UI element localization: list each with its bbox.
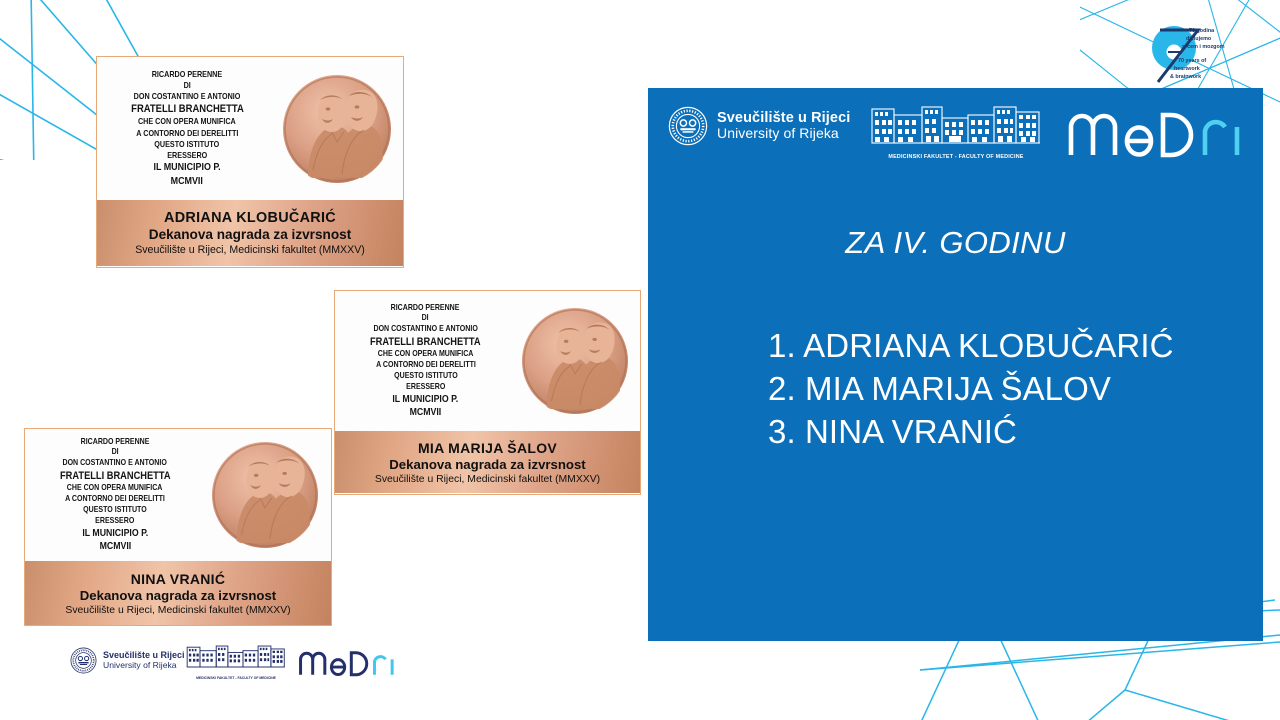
cert-line-6: A CONTORNO DEI DERELITTI — [136, 128, 238, 139]
faculty-lockup: MEDICINSKI FAKULTET - FACULTY OF MEDICIN… — [870, 102, 1042, 160]
cert-line-3: DON COSTANTINO E ANTONIO — [373, 324, 477, 335]
anniversary-line-5: heartwork — [1174, 66, 1200, 72]
faculty-caption: MEDICINSKI FAKULTET - FACULTY OF MEDICIN… — [870, 154, 1042, 160]
cert-line-10: MCMVII — [171, 175, 203, 189]
footer-university-lockup: Sveučilište u Rijeci University of Rijek… — [70, 647, 185, 674]
cert-line-10: MCMVII — [410, 406, 442, 419]
certificate-award-title: Dekanova nagrada za izvrsnost — [80, 588, 276, 603]
cert-line-4: FRATELLI BRANCHETTA — [60, 469, 171, 483]
university-name-hr: Sveučilište u Rijeci — [717, 111, 850, 127]
certificate-mia-marija-salov: RICARDO PERENNE DI DON COSTANTINO E ANTO… — [334, 290, 641, 495]
certificate-awardee-name: MIA MARIJA ŠALOV — [418, 440, 557, 456]
cert-line-5: CHE CON OPERA MUNIFICA — [378, 349, 474, 360]
footer-medri-logo — [298, 645, 398, 679]
medri-wordmark-icon — [1067, 101, 1247, 159]
certificate-awardee-name: NINA VRANIĆ — [131, 571, 226, 587]
anniversary-line-4: 70 years of — [1178, 58, 1206, 64]
cert-line-6: A CONTORNO DEI DERELITTI — [376, 360, 476, 371]
cert-line-3: DON COSTANTINO E ANTONIO — [134, 91, 241, 102]
footer-faculty-caption: MEDICINSKI FAKULTET - FACULTY OF MEDICIN… — [186, 676, 286, 680]
cert-line-7: QUESTO ISTITUTO — [394, 371, 458, 382]
anniversary-line-3: srcem i mozgom — [1182, 44, 1225, 50]
certificate-awardee-name: ADRIANA KLOBUČARIĆ — [164, 210, 336, 226]
certificate-institution: Sveučilište u Rijeci, Medicinski fakulte… — [375, 474, 600, 485]
cert-line-8: ERESSERO — [406, 382, 445, 393]
certificate-adriana-klobucaric: RICARDO PERENNE DI DON COSTANTINO E ANTO… — [96, 56, 404, 268]
cert-line-2: DI — [422, 313, 429, 324]
medri-logo — [1067, 101, 1247, 159]
cert-line-7: QUESTO ISTITUTO — [83, 505, 147, 516]
cert-line-10: MCMVII — [99, 540, 131, 553]
anniversary-line-2: djelujemo — [1186, 36, 1211, 42]
panel-title: ZA IV. GODINU — [648, 225, 1263, 261]
medri-wordmark-icon — [298, 645, 398, 677]
cert-line-2: DI — [183, 80, 190, 91]
cert-line-5: CHE CON OPERA MUNIFICA — [67, 483, 163, 494]
cert-line-4: FRATELLI BRANCHETTA — [370, 335, 481, 349]
university-of-rijeka-seal-icon — [70, 647, 97, 674]
certificate-body-text: RICARDO PERENNE DI DON COSTANTINO E ANTO… — [25, 429, 199, 561]
footer-university-names: Sveučilište u Rijeci University of Rijek… — [103, 651, 185, 670]
branchetta-brothers-medal-icon — [211, 441, 319, 549]
cert-line-3: DON COSTANTINO E ANTONIO — [63, 458, 167, 469]
certificate-institution: Sveučilište u Rijeci, Medicinski fakulte… — [135, 244, 365, 256]
presentation-slide: 70 godina djelujemo srcem i mozgom 70 ye… — [0, 0, 1280, 720]
branchetta-brothers-medal-icon — [282, 74, 392, 184]
university-lockup: Sveučilište u Rijeci University of Rijek… — [668, 106, 850, 146]
cert-line-1: RICARDO PERENNE — [391, 303, 460, 314]
university-of-rijeka-seal-icon — [668, 106, 708, 146]
faculty-building-icon — [870, 102, 1042, 148]
anniversary-logo: 70 godina djelujemo srcem i mozgom 70 ye… — [1140, 8, 1275, 88]
cert-line-1: RICARDO PERENNE — [81, 437, 150, 448]
certificate-award-title: Dekanova nagrada za izvrsnost — [389, 457, 585, 472]
certificate-nina-vranic: RICARDO PERENNE DI DON COSTANTINO E ANTO… — [24, 428, 332, 626]
certificate-body-text: RICARDO PERENNE DI DON COSTANTINO E ANTO… — [335, 291, 510, 431]
awardee-item-2: 2. MIA MARIJA ŠALOV — [768, 367, 1268, 410]
blue-content-panel: Sveučilište u Rijeci University of Rijek… — [648, 88, 1263, 641]
certificate-award-title: Dekanova nagrada za izvrsnost — [149, 227, 351, 242]
cert-line-7: QUESTO ISTITUTO — [155, 139, 220, 150]
cert-line-4: FRATELLI BRANCHETTA — [131, 102, 244, 117]
cert-line-8: ERESSERO — [95, 516, 134, 527]
panel-logo-header: Sveučilište u Rijeci University of Rijek… — [662, 100, 1252, 162]
awardee-item-3: 3. NINA VRANIĆ — [768, 410, 1268, 453]
cert-line-5: CHE CON OPERA MUNIFICA — [138, 116, 236, 127]
anniversary-line-1: 70 godina — [1189, 28, 1214, 34]
cert-line-9: IL MUNICIPIO P. — [153, 161, 220, 175]
faculty-building-icon — [186, 643, 286, 670]
certificate-body-text: RICARDO PERENNE DI DON COSTANTINO E ANTO… — [97, 57, 271, 200]
cert-line-9: IL MUNICIPIO P. — [393, 393, 459, 406]
footer-faculty-lockup: MEDICINSKI FAKULTET - FACULTY OF MEDICIN… — [186, 643, 286, 680]
footer-university-name-en: University of Rijeka — [103, 661, 185, 670]
footer-logo-lockup: Sveučilište u Rijeci University of Rijek… — [70, 645, 390, 687]
awardee-list: 1. ADRIANA KLOBUČARIĆ 2. MIA MARIJA ŠALO… — [768, 324, 1268, 454]
cert-line-1: RICARDO PERENNE — [152, 69, 222, 80]
university-names: Sveučilište u Rijeci University of Rijek… — [717, 111, 850, 142]
cert-line-8: ERESSERO — [167, 150, 207, 161]
branchetta-brothers-medal-icon — [521, 307, 629, 415]
cert-line-9: IL MUNICIPIO P. — [82, 527, 148, 540]
awardee-item-1: 1. ADRIANA KLOBUČARIĆ — [768, 324, 1268, 367]
certificate-institution: Sveučilište u Rijeci, Medicinski fakulte… — [65, 605, 290, 616]
anniversary-line-6: & brainwork — [1170, 74, 1201, 80]
university-name-en: University of Rijeka — [717, 126, 850, 141]
cert-line-6: A CONTORNO DEI DERELITTI — [65, 494, 165, 505]
cert-line-2: DI — [111, 447, 118, 458]
